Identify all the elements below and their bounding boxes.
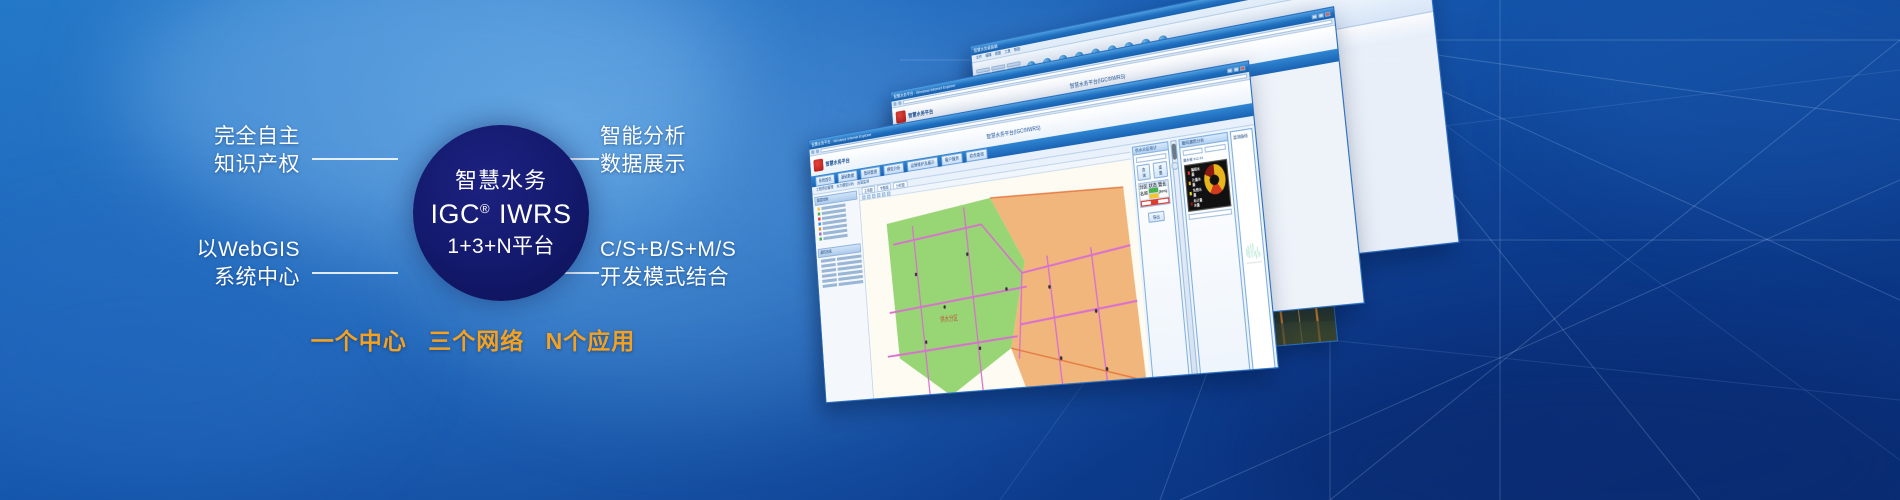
feature-top-left-line1: 完全自主 (170, 123, 300, 151)
tagline-part2: 三个网络 (428, 328, 524, 354)
minimize-icon[interactable] (1311, 13, 1317, 19)
core-brand-circle: 智慧水务 IGC®IWRS 1+3+N平台 (413, 125, 589, 301)
gis-map-graphics: 供水分区 (860, 159, 1156, 403)
feature-bottom-left-line1: 以WebGIS (170, 236, 300, 264)
core-brand-line: IGC®IWRS (430, 201, 571, 228)
pan-icon[interactable] (862, 195, 866, 200)
app-logo-icon (813, 158, 823, 172)
front-header-title: 智慧水务平台(IGC®IWRS) (986, 124, 1041, 141)
identify-icon[interactable] (882, 192, 886, 197)
feature-top-left-line2: 知识产权 (170, 151, 300, 179)
feature-top-right-line2: 数据展示 (600, 151, 686, 179)
back-icon[interactable] (893, 102, 897, 107)
menu-item-2[interactable]: 视图 (995, 51, 1002, 57)
export-button[interactable]: 导出 (1147, 211, 1165, 223)
browser-window-front[interactable]: 智慧水务平台 - Windows Internet Explorer 智慧水务平… (808, 60, 1279, 403)
legend-item-1: 计量水量 (1188, 176, 1203, 187)
forward-icon[interactable] (816, 149, 819, 154)
reset-button[interactable]: 重置 (1153, 161, 1168, 179)
close-icon[interactable] (1240, 65, 1246, 71)
feature-top-right-line1: 智能分析 (600, 123, 686, 151)
hero-banner: 完全自主 知识产权 以WebGIS 系统中心 智能分析 数据展示 C/S+B/S… (0, 0, 1900, 500)
front-brand-name: 智慧水务平台 (825, 156, 850, 167)
chart-x-axis-label: 2013年05月01日 - 05月31日 (1255, 369, 1273, 385)
brand-igc: IGC (430, 199, 480, 229)
feature-bottom-right-line2: 开发模式结合 (600, 264, 736, 292)
forward-icon[interactable] (898, 101, 902, 106)
dialog-button-row: 查询 重置 (1136, 161, 1168, 181)
connector-top-left (312, 158, 398, 160)
screenshot-stack: 影像地图 (790, 40, 1550, 370)
select-icon[interactable] (887, 191, 891, 196)
registered-mark-icon: ® (480, 201, 490, 216)
measure-icon[interactable] (877, 192, 881, 197)
menu-item-4[interactable]: 帮助 (1014, 47, 1021, 53)
core-platform-line: 1+3+N平台 (447, 236, 554, 257)
pie-chart (1203, 163, 1226, 196)
legend-item-3: 未计量水量 (1190, 197, 1205, 208)
core-chinese-title: 智慧水务 (455, 170, 547, 192)
pan-pad-icon[interactable] (1171, 161, 1179, 170)
tagline-part1: 一个中心 (311, 328, 407, 354)
feature-bottom-left-line2: 系统中心 (170, 264, 300, 292)
menu-item-0[interactable]: 文件 (976, 55, 982, 61)
feature-bottom-right-line1: C/S+B/S+M/S (600, 236, 736, 264)
tagline: 一个中心 三个网络 N个应用 (168, 322, 778, 356)
query-button[interactable]: 查询 (1136, 163, 1151, 181)
zoom-out-icon[interactable] (872, 193, 876, 198)
right-dialog-area: 供水分区统计 查询 重置 分区名称 状态 管长( (1130, 125, 1279, 403)
legend-item-0: 漏损水量 (1187, 166, 1202, 177)
legend-item-2: 免费水量 (1189, 187, 1204, 198)
back-icon[interactable] (811, 150, 814, 155)
pie-chart-panel: 漏损水量 计量水量 免费水量 未计量水量 (1184, 159, 1231, 212)
maximize-icon[interactable] (1233, 66, 1239, 72)
feature-label-top-right: 智能分析 数据展示 (600, 123, 686, 179)
connector-bottom-left (312, 272, 398, 274)
slider-knob[interactable] (1171, 143, 1177, 159)
tagline-part3: N个应用 (546, 328, 636, 354)
maximize-icon[interactable] (1318, 12, 1324, 18)
map-column: 主地图 专题图 分析图 (859, 145, 1156, 403)
menu-item-1[interactable]: 编辑 (985, 53, 991, 59)
zoom-in-icon[interactable] (867, 194, 871, 199)
background-glow-5 (1550, 0, 1900, 220)
feature-label-top-left: 完全自主 知识产权 (170, 123, 300, 179)
statistics-table: 分区名称 状态 管长(km) (1138, 179, 1170, 208)
feature-label-bottom-right: C/S+B/S+M/S 开发模式结合 (600, 236, 736, 292)
brand-iwrs: IWRS (499, 199, 572, 229)
close-icon[interactable] (1325, 11, 1331, 17)
feature-label-bottom-left: 以WebGIS 系统中心 (170, 236, 300, 292)
menu-item-3[interactable]: 工具 (1004, 49, 1011, 55)
gis-map-canvas[interactable]: 供水分区 (860, 159, 1156, 403)
pie-legend: 漏损水量 计量水量 免费水量 未计量水量 (1187, 166, 1205, 208)
minimize-icon[interactable] (1227, 67, 1233, 73)
front-window-controls[interactable] (1227, 65, 1246, 73)
